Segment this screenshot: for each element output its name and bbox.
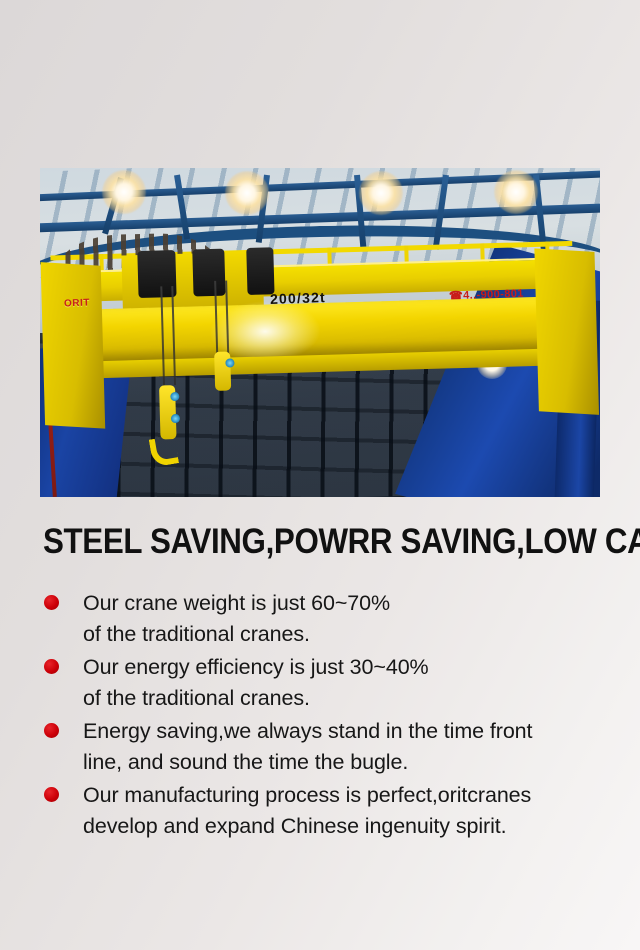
list-item-text: Our crane weight is just 60~70% of the t… xyxy=(83,588,610,649)
list-item-text: Our manufacturing process is perfect,ori… xyxy=(83,780,610,841)
list-item-line: Energy saving,we always stand in the tim… xyxy=(83,719,532,743)
crane-phone-marking: ☎4..-900-801 xyxy=(449,287,524,303)
list-item-line: develop and expand Chinese ingenuity spi… xyxy=(83,811,610,842)
list-item-text: Our energy efficiency is just 30~40% of … xyxy=(83,652,610,713)
bullet-dot-icon xyxy=(44,659,59,674)
crane-end-truck xyxy=(41,262,105,429)
hoist-drum xyxy=(192,249,226,296)
ceiling-light xyxy=(225,171,269,215)
list-item: Our manufacturing process is perfect,ori… xyxy=(44,780,610,841)
hook-sheave xyxy=(171,414,180,423)
crane-end-truck xyxy=(535,248,599,415)
list-item-line: line, and sound the time the bugle. xyxy=(83,747,610,778)
list-item: Our energy efficiency is just 30~40% of … xyxy=(44,652,610,713)
crane-photo-scene: ORIT 200/32t ☎4..-900-801 xyxy=(40,168,600,497)
crane-capacity-marking: 200/32t xyxy=(269,289,325,307)
overhead-crane xyxy=(46,249,594,442)
benefits-list: Our crane weight is just 60~70% of the t… xyxy=(44,588,610,844)
list-item-line: Our crane weight is just 60~70% xyxy=(83,591,390,615)
list-item-line: Our manufacturing process is perfect,ori… xyxy=(83,783,531,807)
list-item-line: of the traditional cranes. xyxy=(83,683,610,714)
hook-sheave xyxy=(171,392,180,401)
bullet-dot-icon xyxy=(44,787,59,802)
ceiling-light xyxy=(494,170,538,214)
list-item-text: Energy saving,we always stand in the tim… xyxy=(83,716,610,777)
hoist-drum xyxy=(247,247,275,294)
auxiliary-hook-block xyxy=(214,352,231,392)
bullet-dot-icon xyxy=(44,723,59,738)
list-item-line: Our energy efficiency is just 30~40% xyxy=(83,655,429,679)
page-title: STEEL SAVING,POWRR SAVING,LOW CARBON xyxy=(43,523,553,561)
list-item: Our crane weight is just 60~70% of the t… xyxy=(44,588,610,649)
phone-icon: ☎ xyxy=(449,290,464,302)
bullet-dot-icon xyxy=(44,595,59,610)
crane-brand-marking: ORIT xyxy=(63,298,89,310)
crane-photo: ORIT 200/32t ☎4..-900-801 xyxy=(40,168,600,497)
list-item-line: of the traditional cranes. xyxy=(83,619,610,650)
list-item: Energy saving,we always stand in the tim… xyxy=(44,716,610,777)
ceiling-light xyxy=(102,170,146,214)
